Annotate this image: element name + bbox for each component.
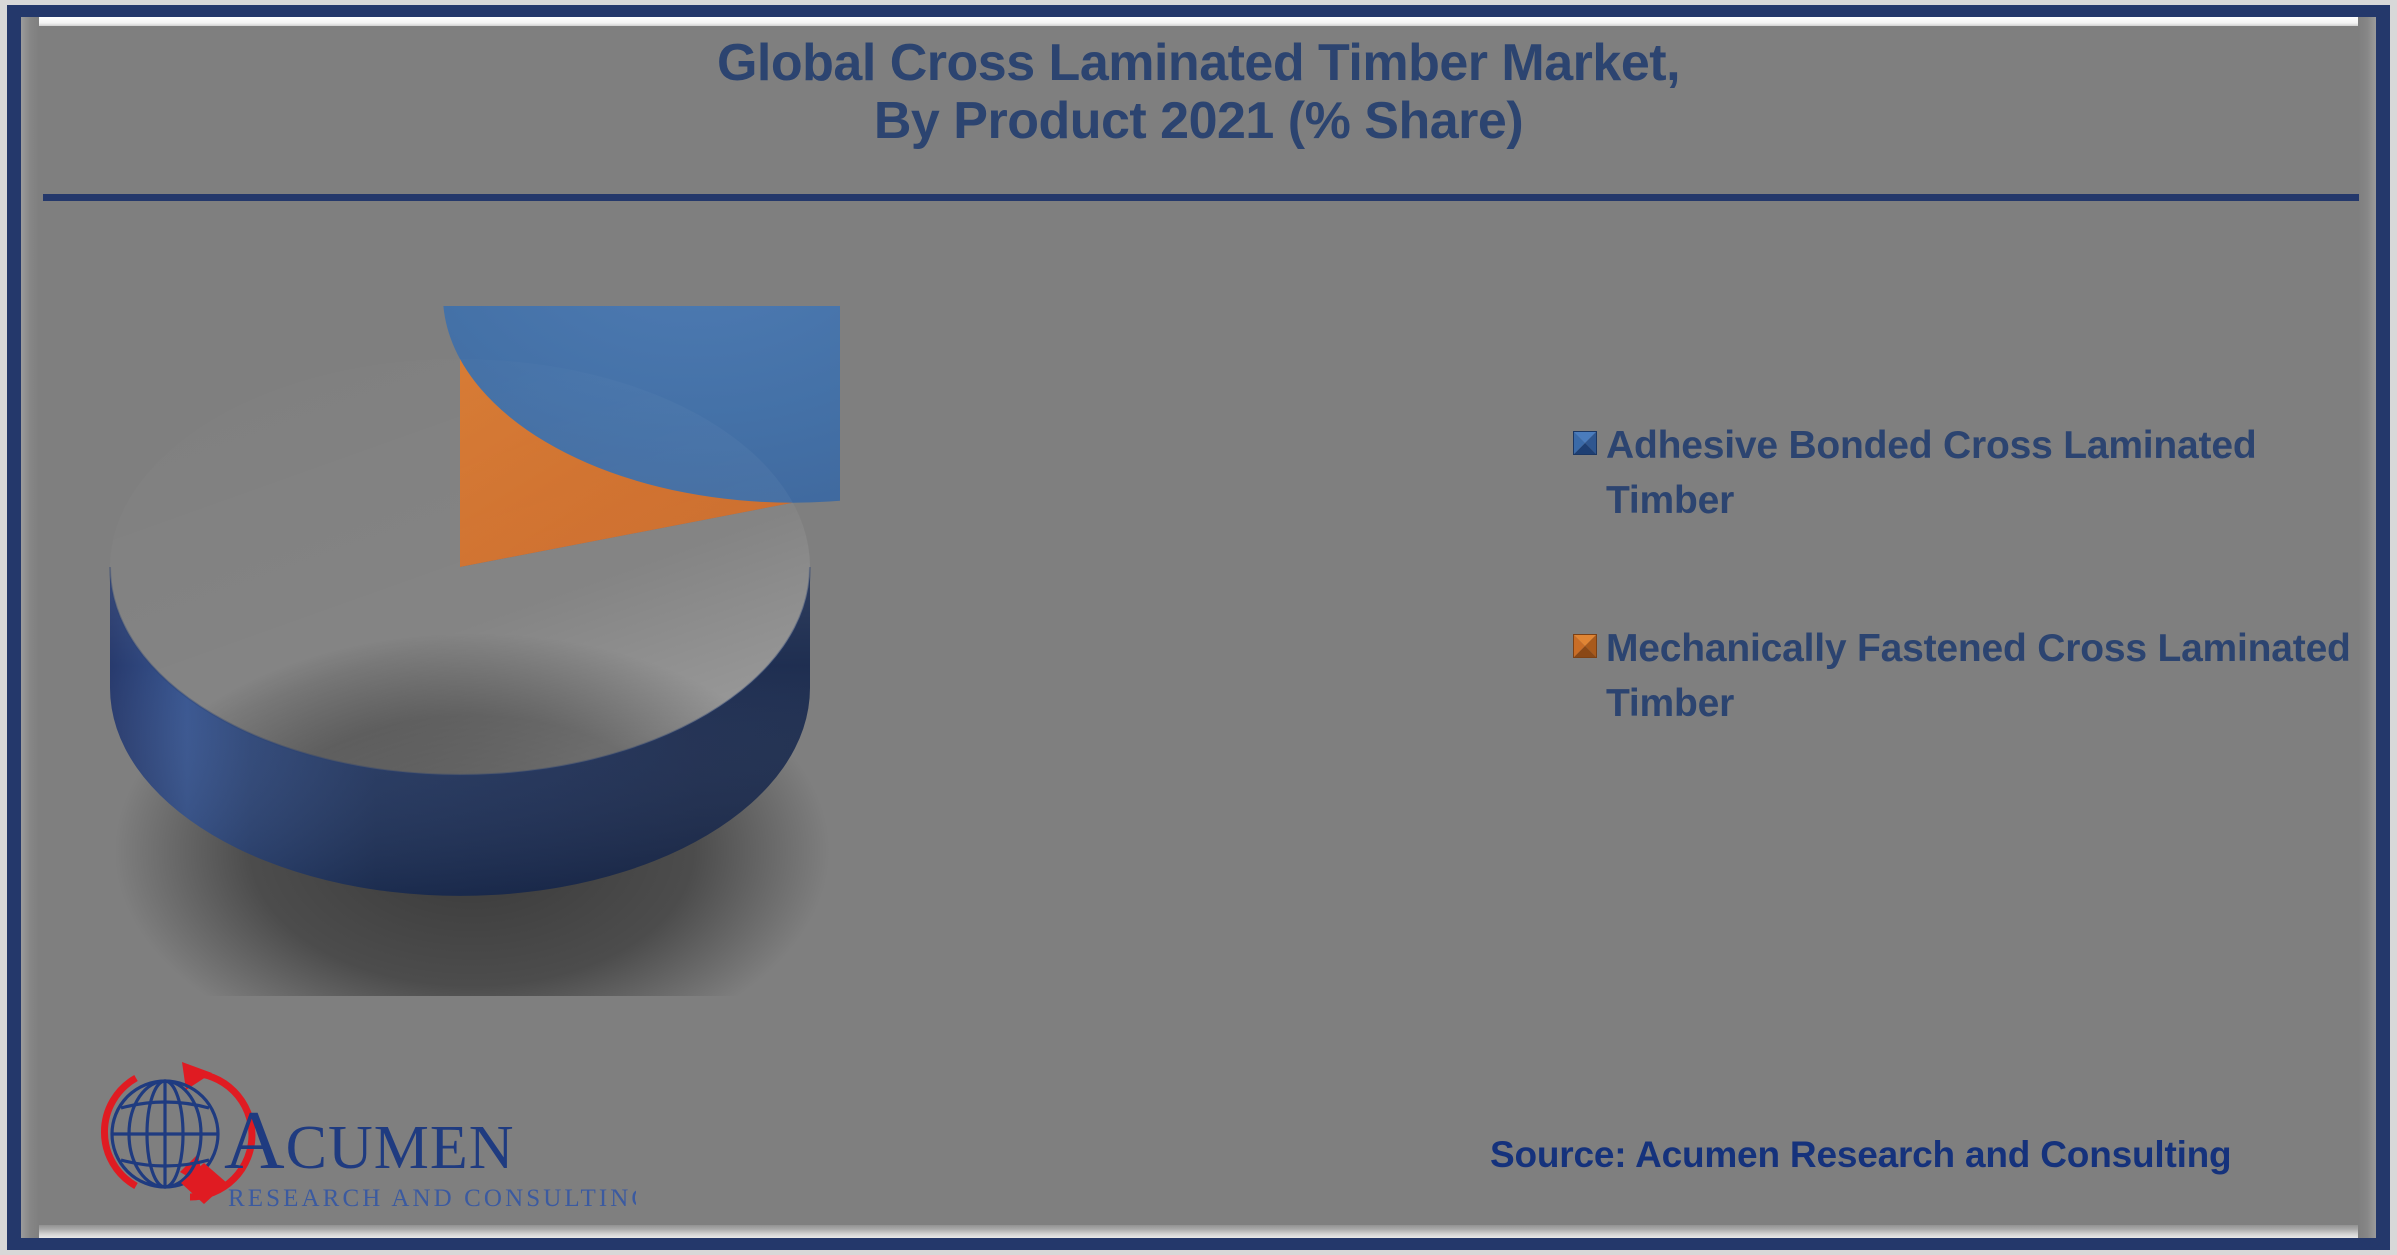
chart-legend: Adhesive Bonded Cross Laminated Timber M…: [1573, 418, 2359, 824]
chart-title-line-1: Global Cross Laminated Timber Market,: [38, 34, 2359, 92]
legend-item-mechanically-fastened[interactable]: Mechanically Fastened Cross Laminated Ti…: [1573, 621, 2359, 732]
title-divider-rule: [43, 194, 2359, 201]
source-note: Source: Acumen Research and Consulting: [1490, 1134, 2231, 1176]
legend-item-adhesive-bonded[interactable]: Adhesive Bonded Cross Laminated Timber: [1573, 418, 2359, 529]
legend-label-adhesive-bonded: Adhesive Bonded Cross Laminated Timber: [1606, 418, 2359, 529]
acumen-logo: ACUMEN RESEARCH AND CONSULTING: [76, 1046, 636, 1221]
acumen-logo-svg: ACUMEN RESEARCH AND CONSULTING: [76, 1046, 636, 1221]
chart-title: Global Cross Laminated Timber Market, By…: [38, 34, 2359, 150]
pie-top-rim-highlight: [110, 359, 810, 775]
pie-chart-svg: [100, 306, 840, 996]
chart-canvas: Global Cross Laminated Timber Market, By…: [38, 26, 2359, 1225]
infographic-root: Global Cross Laminated Timber Market, By…: [0, 0, 2397, 1255]
legend-label-mechanically-fastened: Mechanically Fastened Cross Laminated Ti…: [1606, 621, 2359, 732]
pie-chart: [100, 306, 840, 996]
legend-swatch-blue-icon: [1573, 431, 1597, 455]
logo-tagline: RESEARCH AND CONSULTING: [228, 1185, 636, 1212]
legend-swatch-orange-icon: [1573, 634, 1597, 658]
logo-wordmark: ACUMEN: [224, 1094, 515, 1187]
chart-title-line-2: By Product 2021 (% Share): [38, 92, 2359, 150]
